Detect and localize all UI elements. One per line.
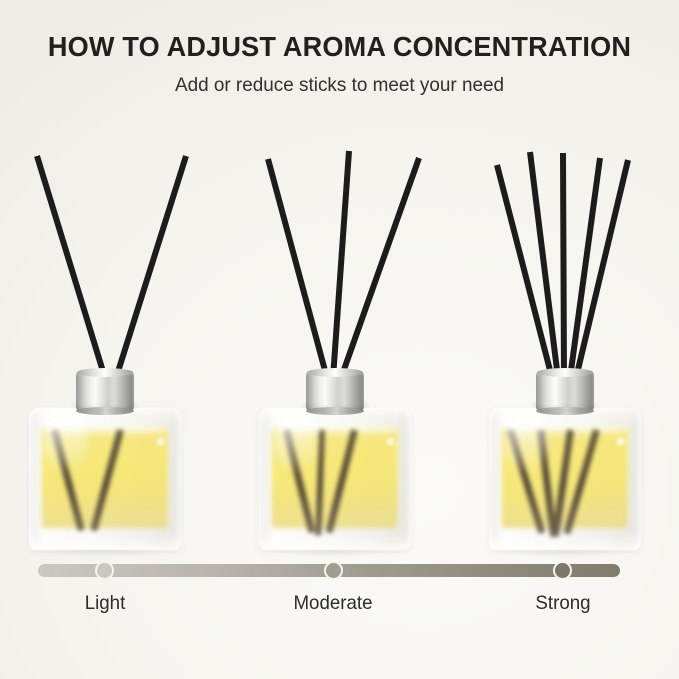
bottle-strong [489,368,641,550]
slider-knob-strong[interactable] [553,561,572,580]
aroma-concentration-infographic: HOW TO ADJUST AROMA CONCENTRATION Add or… [0,0,679,679]
reed-stick [37,156,105,378]
glass-specular-dot [387,438,394,445]
reed-sticks-strong [450,0,679,400]
reed-sticks-light [0,0,220,400]
bottle-moderate [259,368,411,550]
bottle-body [259,408,411,550]
submerged-stick [325,429,357,534]
bottle-cap-icon [306,370,364,412]
glass-highlight [45,414,87,470]
slider-label-light: Light [47,592,162,615]
glass-edge-left [489,408,502,550]
slider-knob-light[interactable] [95,561,114,580]
bottle-light [29,368,181,550]
diffuser-moderate [220,0,450,560]
glass-edge-right [626,408,641,550]
slider-label-moderate: Moderate [275,592,390,615]
glass-specular-dot [157,438,164,445]
diffuser-strong [450,0,679,560]
bottle-cap-icon [536,370,594,412]
slider-label-strong: Strong [505,592,620,615]
reed-stick [341,158,419,378]
glass-edge-right [396,408,411,550]
reed-stick [268,159,327,378]
glass-edge-left [29,408,42,550]
bottle-body [489,408,641,550]
reed-stick [116,156,186,378]
concentration-slider[interactable] [38,564,620,578]
reed-stick [563,153,564,378]
slider-knob-moderate[interactable] [324,561,343,580]
slider-labels: Light Moderate Strong [0,592,679,622]
reed-stick [333,151,349,378]
glass-edge-left [259,408,272,550]
submerged-stick [90,429,124,531]
glass-highlight [275,414,317,470]
bottle-body [29,408,181,550]
reed-sticks-moderate [220,0,450,400]
bottle-cap-icon [76,370,134,412]
glass-edge-right [166,408,181,550]
glass-highlight [505,414,547,470]
glass-specular-dot [617,438,624,445]
diffuser-light [0,0,220,560]
